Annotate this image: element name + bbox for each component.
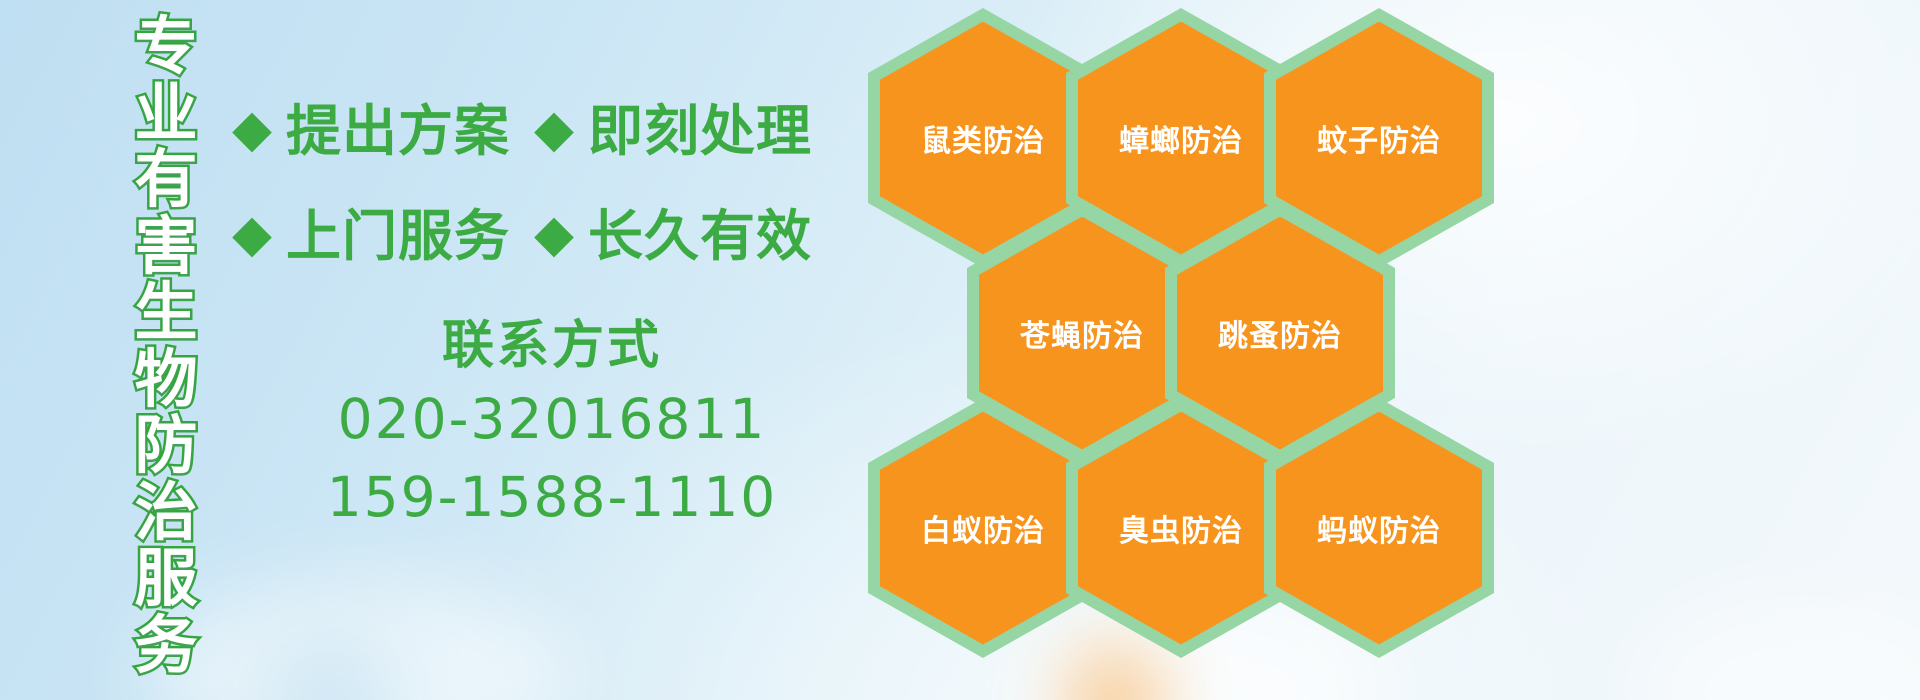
vertical-headline-char: 服 [135, 546, 198, 613]
hexagon-inner: 蚂蚁防治 [1276, 412, 1482, 645]
feature-item: ◆ 上门服务 [232, 207, 510, 265]
vertical-headline-char: 务 [135, 613, 198, 680]
vertical-headline-char: 防 [135, 413, 198, 480]
diamond-bullet-icon: ◆ [534, 103, 574, 155]
service-hexagon-grid: 鼠类防治 蟑螂防治 蚊子防治 苍蝇防治 跳蚤防治 白蚁防治 [860, 0, 1920, 700]
contact-block: 联系方式 020-32016811 159-1588-1110 [232, 312, 872, 536]
vertical-headline-char: 生 [135, 280, 198, 347]
feature-list: ◆ 提出方案 ◆ 即刻处理 ◆ 上门服务 ◆ 长久有效 [232, 78, 872, 288]
diamond-bullet-icon: ◆ [232, 208, 272, 260]
service-label: 蟑螂防治 [1119, 116, 1243, 160]
service-label: 臭虫防治 [1119, 506, 1243, 550]
phone-number-mobile[interactable]: 159-1588-1110 [232, 458, 872, 536]
diamond-bullet-icon: ◆ [232, 103, 272, 155]
feature-item: ◆ 提出方案 [232, 102, 510, 160]
service-label: 跳蚤防治 [1218, 311, 1342, 355]
background-blur-shape [270, 640, 390, 700]
promo-banner: 专 业 有 害 生 物 防 治 服 务 ◆ 提出方案 ◆ 即刻处理 ◆ 上门服务 [0, 0, 1920, 700]
service-label: 蚂蚁防治 [1317, 506, 1441, 550]
phone-number-landline[interactable]: 020-32016811 [232, 380, 872, 458]
vertical-headline: 专 业 有 害 生 物 防 治 服 务 [112, 14, 220, 686]
hexagon-inner: 臭虫防治 [1078, 412, 1284, 645]
feature-row: ◆ 上门服务 ◆ 长久有效 [232, 183, 872, 288]
feature-row: ◆ 提出方案 ◆ 即刻处理 [232, 78, 872, 183]
feature-item: ◆ 即刻处理 [534, 102, 812, 160]
vertical-headline-char: 有 [135, 147, 198, 214]
vertical-headline-char: 害 [135, 214, 198, 281]
vertical-headline-char: 物 [135, 347, 198, 414]
feature-label: 长久有效 [588, 207, 812, 265]
feature-item: ◆ 长久有效 [534, 207, 812, 265]
feature-label: 即刻处理 [588, 102, 812, 160]
service-label: 蚊子防治 [1317, 116, 1441, 160]
diamond-bullet-icon: ◆ [534, 208, 574, 260]
vertical-headline-char: 专 [135, 14, 198, 81]
feature-label: 提出方案 [286, 102, 510, 160]
vertical-headline-char: 治 [135, 480, 198, 547]
vertical-headline-char: 业 [135, 81, 198, 148]
service-label: 苍蝇防治 [1020, 311, 1144, 355]
contact-heading: 联系方式 [232, 312, 872, 380]
hexagon-inner: 白蚁防治 [880, 412, 1086, 645]
service-label: 鼠类防治 [921, 116, 1045, 160]
feature-label: 上门服务 [286, 207, 510, 265]
service-label: 白蚁防治 [921, 506, 1045, 550]
